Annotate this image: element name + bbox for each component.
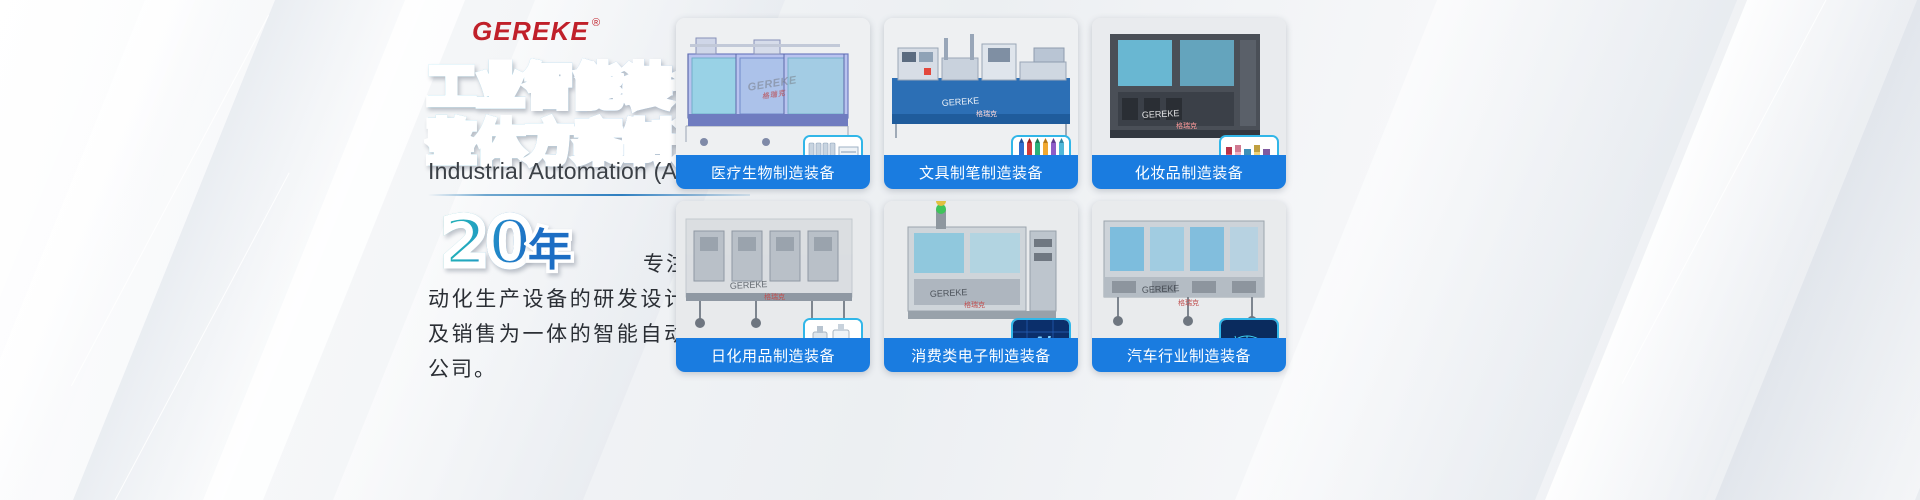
- background-hairline: [110, 173, 289, 500]
- product-card-label: 日化用品制造装备: [676, 338, 870, 372]
- svg-text:GEREKE: GEREKE: [930, 287, 968, 299]
- product-card-label: 汽车行业制造装备: [1092, 338, 1286, 372]
- product-card-grid: GEREKE格瑞克 医疗生物制造装备: [676, 18, 1286, 372]
- svg-text:GEREKE: GEREKE: [730, 279, 768, 291]
- product-card[interactable]: GEREKE 格瑞克 Ai 消费类电子制造装备: [884, 201, 1078, 372]
- years-badge: 20 年: [442, 210, 572, 276]
- svg-text:格瑞克: 格瑞克: [1176, 121, 1197, 130]
- registered-trademark-icon: ®: [592, 17, 600, 29]
- svg-text:格瑞克: 格瑞克: [1178, 298, 1199, 307]
- product-card[interactable]: GEREKE 格瑞克 汽车行业制造装备: [1092, 201, 1286, 372]
- background-hairline: [71, 15, 269, 386]
- svg-text:格瑞克: 格瑞克: [764, 292, 785, 301]
- product-card-label: 化妆品制造装备: [1092, 155, 1286, 189]
- background-streak: [37, 0, 454, 500]
- product-card-label: 医疗生物制造装备: [676, 155, 870, 189]
- years-unit: 年: [528, 229, 572, 273]
- product-card[interactable]: GEREKE 格瑞克 日化用品制造装备: [676, 201, 870, 372]
- background-streak: [0, 0, 267, 500]
- background-streak: [0, 0, 219, 500]
- svg-text:GEREKE: GEREKE: [1142, 108, 1180, 120]
- product-card[interactable]: GEREKE 格瑞克 文具制笔制造装备: [884, 18, 1078, 189]
- svg-text:GEREKE: GEREKE: [1142, 283, 1180, 295]
- brand-logo-text: GEREKE: [472, 16, 589, 47]
- svg-text:格瑞克: 格瑞克: [964, 300, 985, 309]
- background-hairline: [1622, 0, 1839, 384]
- product-card-label: 消费类电子制造装备: [884, 338, 1078, 372]
- product-card[interactable]: GEREKE格瑞克 医疗生物制造装备: [676, 18, 870, 189]
- background-streak: [1501, 0, 1920, 500]
- product-card-label: 文具制笔制造装备: [884, 155, 1078, 189]
- promo-banner: GEREKE ® 工业智能装备 整体方案制造商 Industrial Autom…: [0, 0, 1920, 500]
- product-card[interactable]: GEREKE 格瑞克 化妆品制造装备: [1092, 18, 1286, 189]
- years-number: 20: [442, 210, 532, 276]
- svg-text:格瑞克: 格瑞克: [976, 109, 997, 118]
- background-streak: [1671, 0, 1920, 500]
- brand-logo: GEREKE ®: [472, 16, 600, 47]
